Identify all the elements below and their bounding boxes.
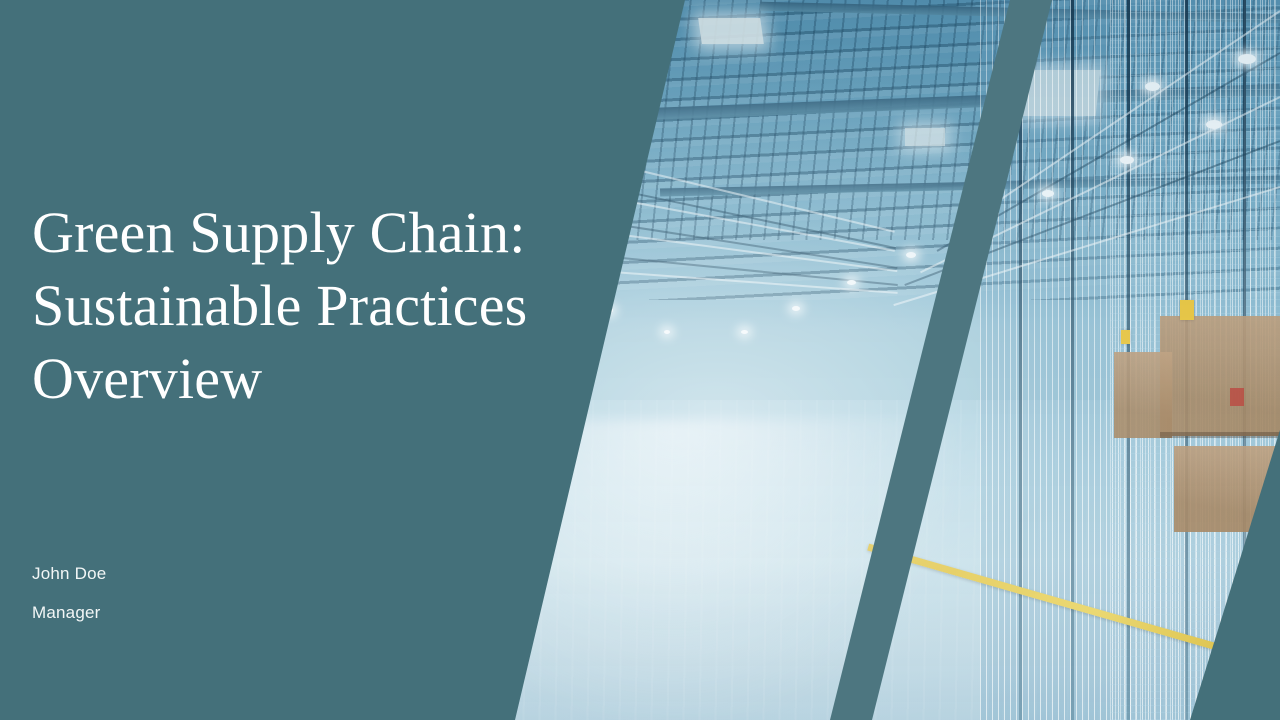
- pallet-boxes: [138, 482, 200, 564]
- pallet-shadow: [0, 455, 150, 461]
- title-block: Green Supply Chain: Sustainable Practice…: [32, 196, 632, 415]
- title-slide: Green Supply Chain: Sustainable Practice…: [0, 0, 1280, 720]
- ceiling-light: [150, 130, 164, 138]
- ceiling-light: [232, 78, 245, 86]
- ceiling-light: [58, 96, 74, 105]
- rack-marker: [12, 402, 30, 424]
- ceiling-light: [236, 162, 248, 169]
- pallet-shadow: [132, 456, 210, 460]
- presenter-name: John Doe: [32, 563, 106, 584]
- ceiling-light: [20, 40, 38, 50]
- presenter-byline: John Doe Manager: [32, 563, 106, 623]
- page-title: Green Supply Chain: Sustainable Practice…: [32, 196, 632, 415]
- presenter-role: Manager: [32, 602, 106, 623]
- byline-spacer: [32, 584, 106, 602]
- ceiling-light: [128, 56, 143, 65]
